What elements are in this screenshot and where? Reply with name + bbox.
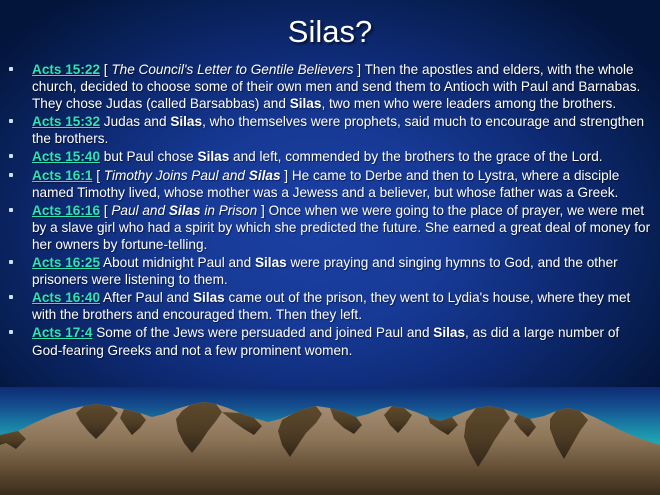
bracket-open: [ — [104, 62, 108, 77]
list-item: Acts 16:40 After Paul and Silas came out… — [0, 289, 660, 323]
bullet-marker-icon — [9, 67, 13, 71]
verse-text-part-1: After Paul and — [103, 290, 189, 305]
scripture-reference-link[interactable]: Acts 16:25 — [32, 255, 100, 270]
passage-heading-pre: Paul and — [111, 203, 165, 218]
verse-text-part-1: but Paul chose — [104, 149, 194, 164]
bracket-open: [ — [104, 203, 108, 218]
verse-text-part-1: About midnight Paul and — [103, 255, 251, 270]
bullet-marker-icon — [9, 119, 13, 123]
highlighted-name: Silas — [198, 149, 230, 164]
scripture-reference-link[interactable]: Acts 15:22 — [32, 62, 100, 77]
bullet-marker-icon — [9, 154, 13, 158]
highlighted-name: Silas — [170, 114, 202, 129]
slide-title: Silas? — [0, 12, 660, 52]
passage-heading-pre: Timothy Joins Paul and — [104, 168, 245, 183]
list-item: Acts 15:32 Judas and Silas, who themselv… — [0, 113, 660, 147]
highlighted-name: Silas — [433, 325, 465, 340]
scripture-reference-link[interactable]: Acts 15:40 — [32, 149, 100, 164]
bracket-close: ] — [284, 168, 288, 183]
verse-text-part-2: , two men who were leaders among the bro… — [321, 96, 616, 111]
bullet-marker-icon — [9, 295, 13, 299]
highlighted-name: Silas — [193, 290, 225, 305]
bullet-marker-icon — [9, 330, 13, 334]
bullet-marker-icon — [9, 208, 13, 212]
bracket-close: ] — [261, 203, 265, 218]
slide-canvas: Silas? Acts 15:22 [ The Council's Letter… — [0, 0, 660, 495]
highlighted-name: Silas — [290, 96, 322, 111]
bullet-marker-icon — [9, 260, 13, 264]
passage-heading-name: Silas — [169, 203, 201, 218]
scripture-reference-link[interactable]: Acts 16:1 — [32, 168, 92, 183]
highlighted-name: Silas — [255, 255, 287, 270]
passage-heading: Paul and Silas in Prison — [111, 203, 257, 218]
passage-heading: Timothy Joins Paul and Silas — [104, 168, 281, 183]
bracket-close: ] — [357, 62, 361, 77]
mountain-range-icon — [0, 387, 660, 495]
verse-text-part-2: and left, commended by the brothers to t… — [233, 149, 603, 164]
verse-text-part-1: Judas and — [104, 114, 167, 129]
list-item: Acts 16:16 [ Paul and Silas in Prison ] … — [0, 202, 660, 253]
scenery-graphic — [0, 387, 660, 495]
passage-heading-name: Silas — [249, 168, 281, 183]
list-item: Acts 17:4 Some of the Jews were persuade… — [0, 324, 660, 358]
list-item: Acts 15:22 [ The Council's Letter to Gen… — [0, 61, 660, 112]
bullet-list: Acts 15:22 [ The Council's Letter to Gen… — [0, 61, 660, 360]
bullet-marker-icon — [9, 173, 13, 177]
bracket-open: [ — [96, 168, 100, 183]
scripture-reference-link[interactable]: Acts 16:16 — [32, 203, 100, 218]
passage-heading-post: in Prison — [204, 203, 257, 218]
scripture-reference-link[interactable]: Acts 16:40 — [32, 290, 100, 305]
scripture-reference-link[interactable]: Acts 15:32 — [32, 114, 100, 129]
list-item: Acts 16:25 About midnight Paul and Silas… — [0, 254, 660, 288]
list-item: Acts 16:1 [ Timothy Joins Paul and Silas… — [0, 167, 660, 201]
verse-text-part-1: Some of the Jews were persuaded and join… — [96, 325, 429, 340]
list-item: Acts 15:40 but Paul chose Silas and left… — [0, 148, 660, 165]
passage-heading: The Council's Letter to Gentile Believer… — [111, 62, 353, 77]
scripture-reference-link[interactable]: Acts 17:4 — [32, 325, 92, 340]
